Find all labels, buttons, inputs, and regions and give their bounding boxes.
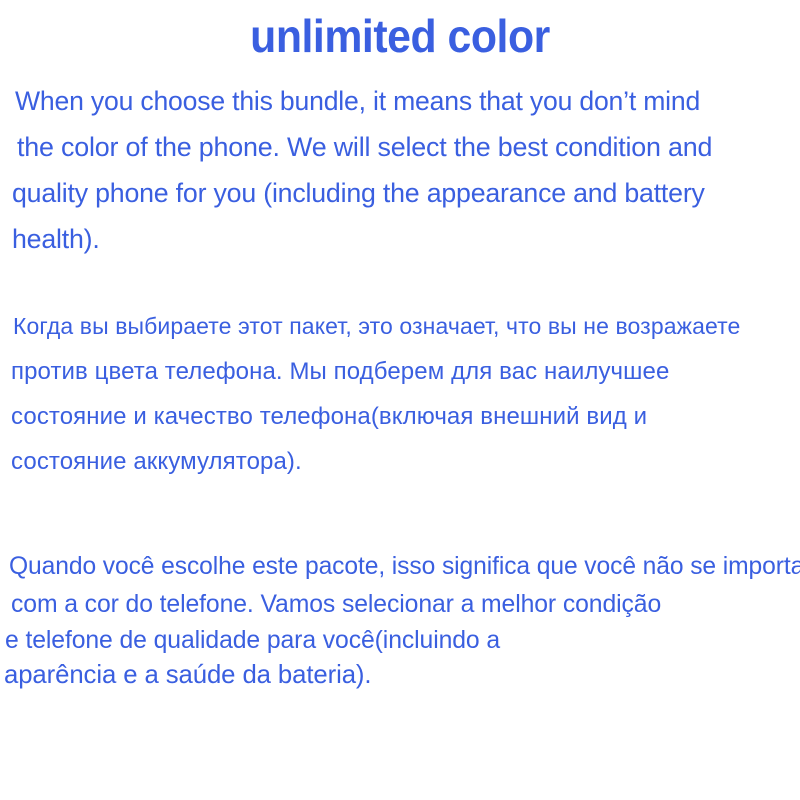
english-line-1: When you choose this bundle, it means th… — [15, 88, 700, 115]
english-line-4: health). — [12, 226, 100, 253]
portuguese-line-1: Quando você escolhe este pacote, isso si… — [9, 554, 800, 579]
russian-line-2: против цвета телефона. Мы подберем для в… — [11, 360, 669, 384]
portuguese-line-4: aparência e a saúde da bateria). — [4, 661, 371, 687]
english-line-2: the color of the phone. We will select t… — [17, 134, 712, 161]
russian-line-3: состояние и качество телефона(включая вн… — [11, 405, 647, 429]
portuguese-line-2: com a cor do telefone. Vamos selecionar … — [11, 592, 661, 617]
portuguese-line-3: e telefone de qualidade para você(inclui… — [5, 628, 500, 653]
page-title: unlimited color — [28, 12, 772, 62]
promo-banner: unlimited color When you choose this bun… — [0, 0, 800, 800]
russian-line-1: Когда вы выбираете этот пакет, это означ… — [13, 315, 740, 338]
russian-line-4: состояние аккумулятора). — [11, 450, 302, 474]
english-line-3: quality phone for you (including the app… — [12, 180, 705, 207]
